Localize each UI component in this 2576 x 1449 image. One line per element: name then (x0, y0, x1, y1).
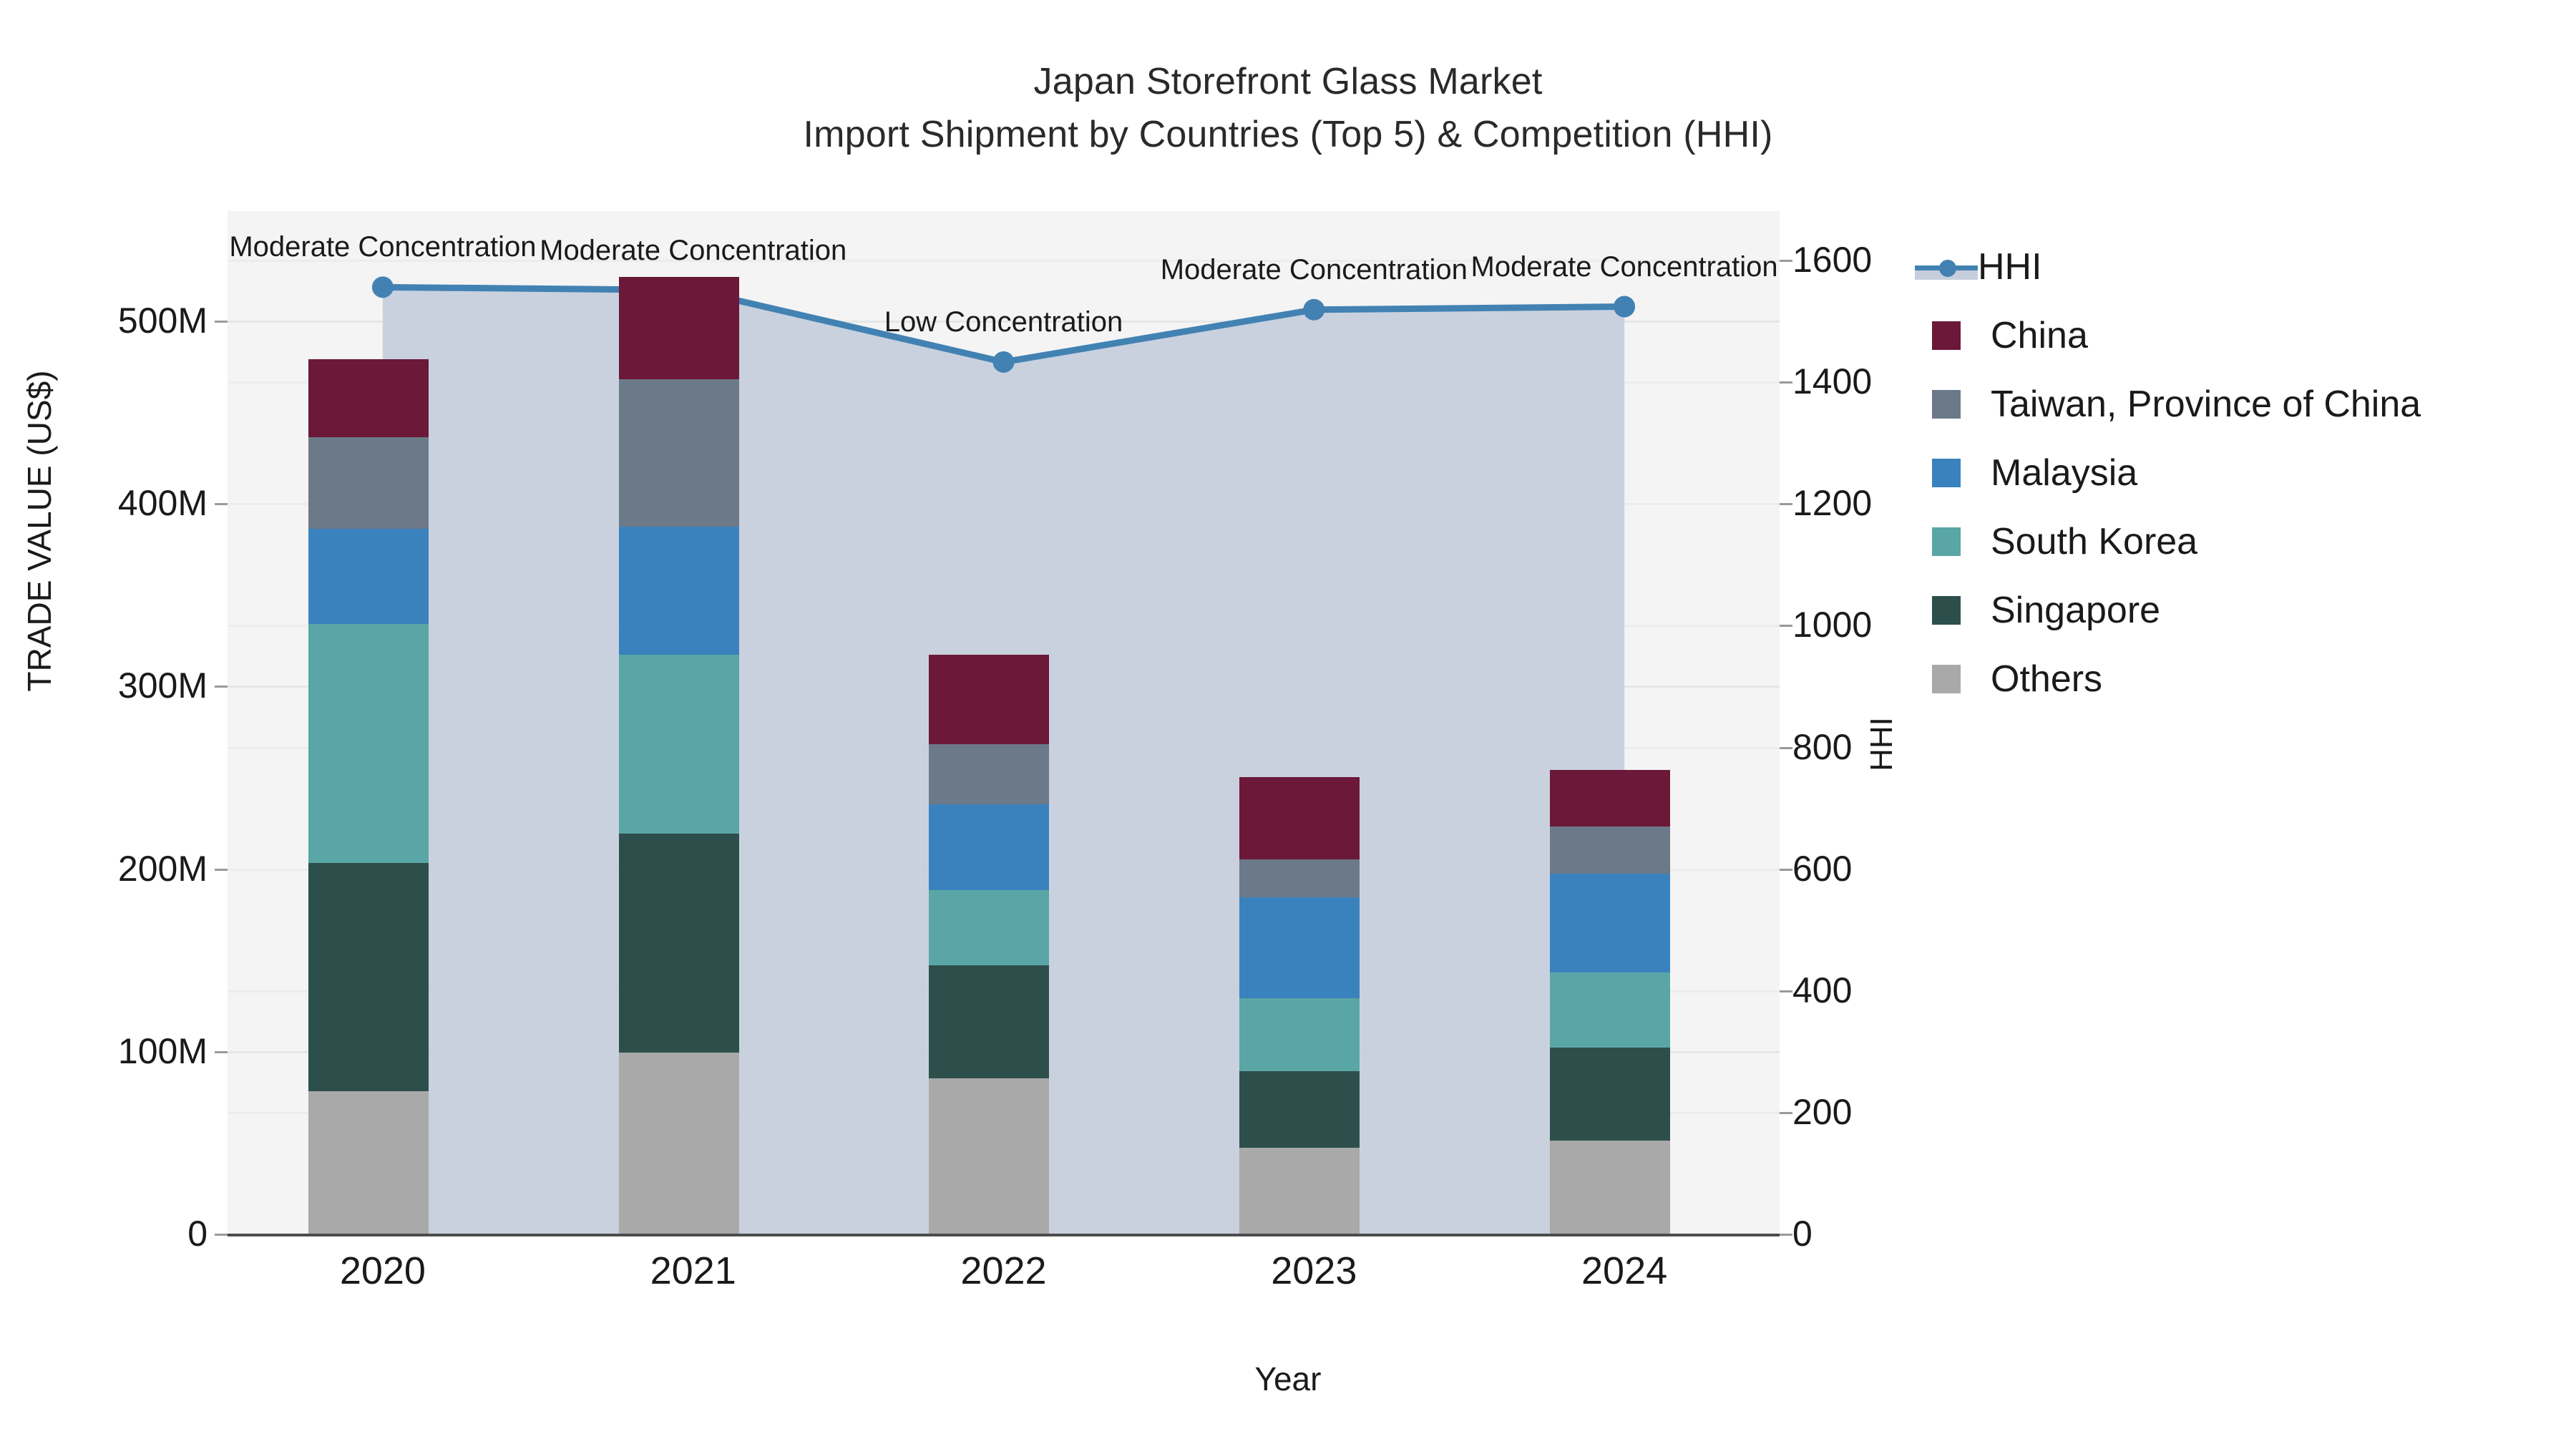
legend-item-china[interactable]: China (1932, 301, 2555, 370)
legend-line-marker-icon (1915, 253, 1978, 281)
bar-segment[interactable] (1550, 826, 1670, 874)
bar-segment[interactable] (929, 744, 1049, 804)
legend-item-south-korea[interactable]: South Korea (1932, 507, 2555, 576)
y-axis-left-tickmark (215, 503, 228, 505)
bar-segment[interactable] (308, 1091, 429, 1234)
legend-swatch-icon (1932, 390, 1961, 419)
bar-segment[interactable] (1239, 1148, 1360, 1234)
bar-segment[interactable] (308, 624, 429, 863)
legend-label: China (1991, 317, 2088, 354)
hhi-annotation-2020: Moderate Concentration (229, 231, 536, 263)
gridline-right (228, 625, 1780, 627)
bar-segment[interactable] (1239, 897, 1360, 997)
bar-segment[interactable] (619, 834, 739, 1053)
y-axis-right-tickmark (1780, 503, 1792, 505)
legend-swatch-icon (1932, 527, 1961, 556)
bar-segment[interactable] (929, 890, 1049, 965)
y-axis-right-tickmark (1780, 990, 1792, 992)
gridline-right (228, 503, 1780, 505)
y-axis-right-tickmark (1780, 747, 1792, 749)
y-axis-left-tickmark (215, 869, 228, 871)
y-axis-left-tickmark (215, 1051, 228, 1053)
y-axis-left-tickmark (215, 1234, 228, 1236)
x-axis-tick-2022: 2022 (897, 1249, 1111, 1293)
legend-label: Singapore (1991, 592, 2160, 629)
bar-segment[interactable] (308, 863, 429, 1091)
bar-segment[interactable] (308, 529, 429, 624)
bar-segment[interactable] (619, 527, 739, 655)
bar-segment[interactable] (1550, 1048, 1670, 1141)
bar-segment[interactable] (1239, 859, 1360, 898)
y-axis-right-tick: 200 (1792, 1091, 1979, 1133)
bar-segment[interactable] (929, 1078, 1049, 1234)
bar-segment[interactable] (308, 359, 429, 438)
bar-segment[interactable] (1239, 777, 1360, 859)
bar-segment[interactable] (1550, 972, 1670, 1048)
bar-segment[interactable] (1550, 770, 1670, 826)
legend-label: Malaysia (1991, 454, 2137, 492)
legend-label: South Korea (1991, 523, 2197, 560)
legend-item-singapore[interactable]: Singapore (1932, 576, 2555, 645)
x-axis-tick-2024: 2024 (1517, 1249, 1732, 1293)
chart-title: Japan Storefront Glass Market Import Shi… (0, 56, 2576, 162)
chart-title-line-1: Japan Storefront Glass Market (0, 56, 2576, 109)
bar-segment[interactable] (619, 655, 739, 834)
bar-segment[interactable] (1550, 874, 1670, 972)
bar-segment[interactable] (929, 804, 1049, 890)
gridline-right (228, 381, 1780, 384)
legend-swatch-icon (1932, 665, 1961, 693)
legend-label: Others (1991, 660, 2102, 698)
y-axis-right-tickmark (1780, 869, 1792, 871)
legend-swatch-icon (1932, 321, 1961, 350)
y-axis-left-tick: 100M (14, 1030, 208, 1072)
bar-segment[interactable] (1239, 1071, 1360, 1148)
bar-segment[interactable] (929, 965, 1049, 1078)
legend-label: HHI (1978, 248, 2042, 286)
legend-label: Taiwan, Province of China (1991, 386, 2421, 423)
y-axis-left-tickmark (215, 321, 228, 323)
hhi-annotation-2024: Moderate Concentration (1471, 251, 1778, 283)
legend-item-malaysia[interactable]: Malaysia (1932, 439, 2555, 507)
y-axis-right-tickmark (1780, 381, 1792, 384)
y-axis-right-tickmark (1780, 1112, 1792, 1114)
bar-segment[interactable] (619, 379, 739, 527)
y-axis-left-label: TRADE VALUE (US$) (20, 102, 59, 960)
hhi-annotation-2022: Low Concentration (884, 306, 1123, 338)
legend-swatch-icon (1932, 459, 1961, 487)
bar-segment[interactable] (619, 1053, 739, 1234)
hhi-annotation-2023: Moderate Concentration (1161, 254, 1468, 286)
legend-swatch-icon (1932, 596, 1961, 625)
hhi-annotation-2021: Moderate Concentration (540, 235, 847, 267)
y-axis-right-tickmark (1780, 1234, 1792, 1236)
x-axis-line (228, 1234, 1780, 1236)
bar-segment[interactable] (1239, 998, 1360, 1071)
chart-title-line-2: Import Shipment by Countries (Top 5) & C… (0, 109, 2576, 162)
bar-segment[interactable] (308, 437, 429, 529)
y-axis-left-tick: 0 (14, 1213, 208, 1254)
legend-item-hhi[interactable]: HHI (1932, 233, 2555, 301)
y-axis-right-tick: 400 (1792, 970, 1979, 1011)
x-axis-tick-2021: 2021 (586, 1249, 801, 1293)
bar-segment[interactable] (929, 655, 1049, 744)
x-axis-label: Year (0, 1360, 2576, 1398)
legend-item-others[interactable]: Others (1932, 645, 2555, 713)
chart-legend: HHIChinaTaiwan, Province of ChinaMalaysi… (1932, 233, 2555, 713)
x-axis-tick-2023: 2023 (1206, 1249, 1421, 1293)
y-axis-right-tick: 0 (1792, 1213, 1979, 1254)
x-axis-tick-2020: 2020 (275, 1249, 490, 1293)
y-axis-right-tickmark (1780, 260, 1792, 262)
chart-canvas: Japan Storefront Glass Market Import Shi… (0, 0, 2576, 1449)
y-axis-right-tickmark (1780, 625, 1792, 627)
bar-segment[interactable] (1550, 1141, 1670, 1234)
legend-item-taiwan-province-of-china[interactable]: Taiwan, Province of China (1932, 370, 2555, 439)
y-axis-left-tickmark (215, 686, 228, 688)
y-axis-right-label: HHI (1864, 530, 1900, 959)
bar-segment[interactable] (619, 277, 739, 379)
